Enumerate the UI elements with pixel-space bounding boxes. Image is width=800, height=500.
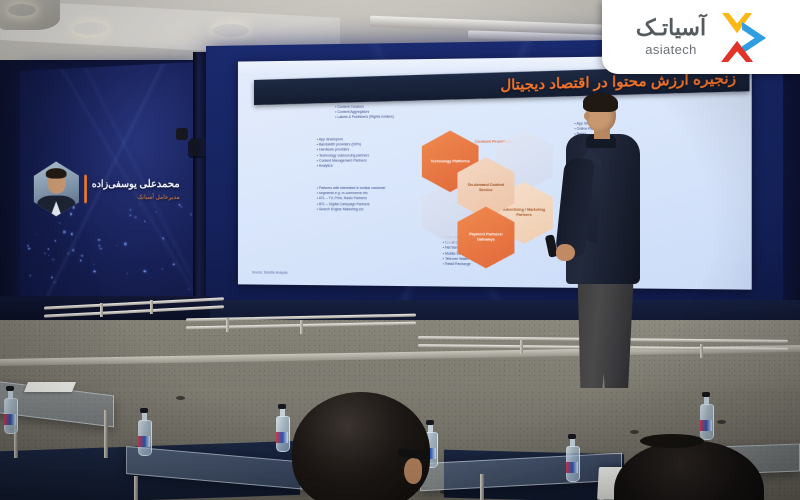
bottle-neck — [428, 424, 433, 433]
floor-stud — [176, 396, 185, 400]
particle-dot — [28, 247, 30, 250]
particle-dot — [162, 238, 163, 240]
particle-dot — [29, 275, 31, 277]
bottle-cap — [568, 434, 576, 439]
nameplate-row: محمدعلی یوسفی‌زاده مدیرعامل آسیاتک — [34, 158, 179, 220]
slide-source-note: Source: Deloitte Analysis — [252, 270, 288, 274]
bottle-label — [4, 414, 16, 425]
water-bottle — [566, 446, 578, 482]
bottle-cap — [278, 404, 286, 409]
bottle-body — [700, 404, 714, 440]
particle-dot — [63, 231, 65, 234]
speaker-name: محمدعلی یوسفی‌زاده — [92, 178, 180, 190]
audience-head — [292, 392, 430, 500]
avatar-hair — [46, 168, 67, 179]
bottle-neck — [570, 438, 575, 447]
bottle-cap — [702, 392, 710, 397]
slide: زنجیره ارزش محتوا در اقتصاد دیجیتال Cont… — [238, 55, 752, 290]
particle-dot — [54, 240, 56, 242]
particle-dot — [173, 263, 175, 265]
particle-dot — [72, 249, 74, 251]
accent-bar — [84, 175, 86, 204]
particle-dot — [99, 244, 101, 246]
bottle-cap — [140, 408, 148, 413]
water-bottle — [138, 420, 150, 456]
floor-stud — [630, 430, 639, 434]
railing-post — [300, 320, 303, 334]
bullet-group-technology-platforms: App developersBandwidth providers (ISPs)… — [317, 137, 369, 169]
particle-dot — [79, 259, 81, 261]
presenter-hair — [583, 93, 618, 112]
speaker-nameplate-screen: محمدعلی یوسفی‌زاده مدیرعامل آسیاتک — [20, 62, 194, 314]
audience-ear — [404, 458, 422, 484]
bottle-label — [276, 432, 288, 443]
nameplate-text: محمدعلی یوسفی‌زاده مدیرعامل آسیاتک — [92, 178, 180, 201]
particle-dot — [93, 263, 94, 264]
particle-dot — [188, 289, 189, 290]
logo-text-fa: آسیاتـک — [636, 17, 706, 39]
particle-dot — [116, 245, 117, 247]
railing-post — [520, 340, 523, 354]
railing-post — [226, 318, 229, 332]
speaker-avatar — [34, 161, 79, 216]
table-leg — [134, 476, 138, 500]
particle-dot — [52, 259, 54, 261]
bottle-neck — [704, 396, 709, 405]
conference-photo-scene: محمدعلی یوسفی‌زاده مدیرعامل آسیاتک زنجیر… — [0, 0, 800, 500]
particle-dot — [27, 244, 29, 246]
particle-dot — [81, 254, 83, 256]
particle-dot — [93, 270, 95, 273]
presenter-hand — [556, 244, 575, 261]
table-leg — [104, 410, 108, 458]
speaker-role: مدیرعامل آسیاتک — [92, 193, 180, 200]
particle-dot — [58, 222, 60, 224]
bottle-cap — [426, 420, 434, 425]
bottle-body — [276, 416, 290, 452]
bottle-neck — [142, 412, 147, 421]
table-leg — [480, 474, 484, 500]
paper-sheet — [24, 382, 76, 392]
particle-dot — [180, 206, 182, 208]
bottle-body — [138, 420, 152, 456]
asiatech-x-icon — [714, 11, 766, 63]
water-bottle — [276, 416, 288, 452]
particle-dot — [35, 234, 36, 236]
particle-dot — [48, 254, 49, 255]
bullet-item: Search Engine Marketing etc — [317, 207, 386, 212]
logo-text-en: asiatech — [645, 42, 697, 57]
water-bottle — [4, 398, 16, 434]
bullet-item: Analytics — [317, 163, 369, 168]
particle-dot — [144, 270, 146, 273]
particle-dot — [71, 232, 73, 235]
logo-wordmark: آسیاتـک asiatech — [636, 17, 706, 57]
particle-dot — [98, 239, 100, 241]
bottle-neck — [280, 408, 285, 417]
particle-dot — [124, 243, 126, 246]
downlight-icon — [213, 24, 249, 37]
camera-icon — [176, 128, 188, 140]
chevron-blue-icon — [742, 22, 766, 54]
bullet-item: Labels & Publishers (Rights holders) — [335, 115, 394, 121]
asiatech-logo-badge: آسیاتـک asiatech — [602, 0, 800, 74]
particle-dot — [47, 248, 49, 250]
truss-pillar — [193, 52, 207, 320]
particle-dot — [44, 252, 45, 253]
particle-dot — [126, 273, 127, 275]
hair-strand — [640, 434, 704, 448]
particle-dot — [51, 277, 53, 279]
bullet-group-advertising-partners: Partners with interested in similar cust… — [317, 186, 386, 212]
bottle-label — [138, 436, 150, 447]
railing-post — [100, 303, 103, 317]
railing-post — [700, 344, 703, 358]
floor-stud — [717, 420, 726, 424]
presenter — [560, 96, 670, 426]
bottle-label — [566, 462, 578, 473]
water-bottle — [700, 404, 712, 440]
particle-dot — [68, 253, 69, 255]
bottle-neck — [8, 390, 13, 399]
bottle-label — [700, 420, 712, 431]
particle-dot — [54, 281, 56, 283]
presentation-slide-screen: زنجیره ارزش محتوا در اقتصاد دیجیتال Cont… — [206, 37, 783, 336]
particle-dot — [161, 268, 163, 270]
bullet-group-content-providers: Content CreatorsContent AggregatorsLabel… — [335, 104, 394, 120]
particle-dot — [144, 221, 145, 223]
downlight-icon — [73, 22, 107, 35]
bottle-cap — [6, 386, 14, 391]
presenter-ear — [584, 112, 590, 120]
bottle-body — [4, 398, 18, 434]
particle-dot — [100, 248, 102, 250]
particle-dot — [61, 279, 62, 280]
bottle-body — [566, 446, 580, 482]
downlight-icon — [8, 4, 36, 16]
railing-post — [150, 300, 153, 314]
